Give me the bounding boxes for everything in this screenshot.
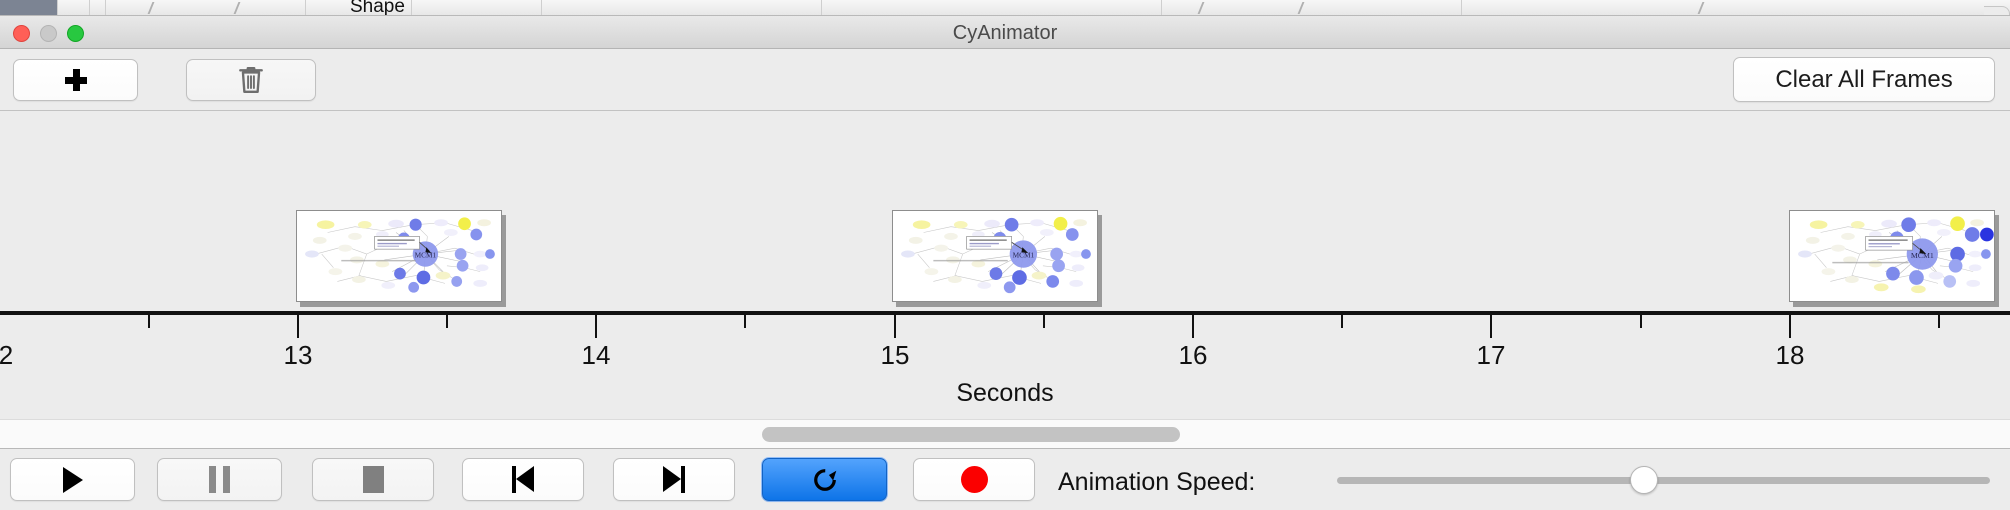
network-graph-icon: MCM1 — [1790, 211, 1994, 301]
ruler-tick-minor — [1938, 315, 1940, 328]
trash-icon — [238, 65, 264, 95]
clear-all-frames-button[interactable]: Clear All Frames — [1733, 57, 1995, 102]
ruler-baseline — [0, 311, 2010, 315]
ruler-label: 13 — [284, 340, 313, 371]
next-frame-button[interactable] — [613, 458, 735, 501]
loop-button[interactable] — [762, 458, 887, 501]
ruler-label: 15 — [881, 340, 910, 371]
ruler-tick-major — [894, 315, 896, 338]
slider-knob[interactable] — [1630, 466, 1658, 494]
frame-image: MCM1 — [892, 210, 1098, 302]
animation-speed-label: Animation Speed: — [1058, 468, 1255, 497]
window-title: CyAnimator — [0, 22, 2010, 45]
stop-button[interactable] — [312, 458, 434, 501]
frame-thumbnail[interactable]: MCM1 — [1789, 210, 1995, 302]
frame-image: MCM1 — [296, 210, 502, 302]
previous-frame-button[interactable] — [462, 458, 584, 501]
ruler-tick-minor — [1341, 315, 1343, 328]
plus-icon — [65, 69, 87, 91]
play-icon — [63, 467, 83, 493]
ruler-tick-minor — [446, 315, 448, 328]
scrollbar-thumb[interactable] — [762, 427, 1180, 442]
record-button[interactable] — [913, 458, 1035, 501]
cyanimator-window: Shape CyAnimator Clear All Frames — [0, 0, 2010, 510]
ruler-label: 16 — [1179, 340, 1208, 371]
background-window-strip: Shape — [0, 0, 2010, 16]
frame-thumbnail[interactable]: MCM1 — [296, 210, 502, 302]
frame-image: MCM1 — [1789, 210, 1995, 302]
loop-icon — [810, 465, 840, 495]
ruler-label: 2 — [0, 340, 13, 371]
network-graph-icon: MCM1 — [297, 211, 501, 301]
axis-title: Seconds — [0, 379, 2010, 408]
ruler-tick-minor — [1043, 315, 1045, 328]
frames-track[interactable]: MCM1 — [0, 111, 2010, 311]
slider-track — [1337, 477, 1990, 484]
ruler-tick-major — [1789, 315, 1791, 338]
animation-speed-slider[interactable] — [1337, 468, 1990, 492]
stop-icon — [363, 466, 384, 493]
add-frame-button[interactable] — [13, 59, 138, 101]
timeline-ruler[interactable]: 2 13 14 15 16 17 18 Seconds — [0, 311, 2010, 421]
ruler-tick-minor — [1640, 315, 1642, 328]
record-icon — [961, 466, 988, 493]
timeline-scrollbar[interactable] — [0, 419, 2010, 449]
ruler-tick-minor — [744, 315, 746, 328]
ruler-label: 18 — [1776, 340, 1805, 371]
pause-button[interactable] — [157, 458, 282, 501]
skip-backward-icon — [510, 466, 536, 493]
ruler-tick-minor — [148, 315, 150, 328]
ruler-tick-major — [595, 315, 597, 338]
ruler-label: 17 — [1477, 340, 1506, 371]
pause-icon — [209, 466, 230, 493]
play-button[interactable] — [10, 458, 135, 501]
frame-thumbnail[interactable]: MCM1 — [892, 210, 1098, 302]
skip-forward-icon — [661, 466, 687, 493]
ruler-tick-major — [1192, 315, 1194, 338]
toolbar: Clear All Frames — [0, 49, 2010, 111]
title-bar: CyAnimator — [0, 16, 2010, 49]
ruler-tick-major — [1490, 315, 1492, 338]
playback-controls: Animation Speed: — [0, 450, 2010, 510]
ruler-tick-major — [297, 315, 299, 338]
delete-frame-button[interactable] — [186, 59, 316, 101]
ruler-label: 14 — [582, 340, 611, 371]
background-window-label: Shape — [350, 0, 405, 16]
network-graph-icon: MCM1 — [893, 211, 1097, 301]
